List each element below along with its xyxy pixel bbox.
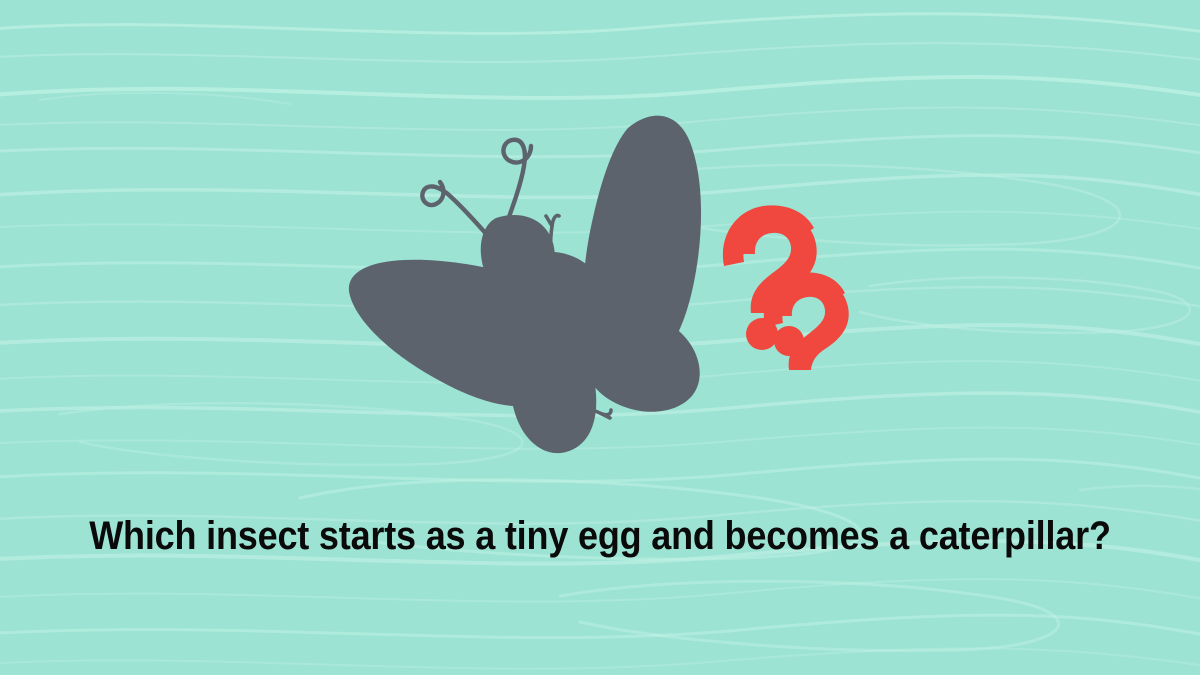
quiz-slide: Which insect starts as a tiny egg and be…	[0, 0, 1200, 675]
butterfly-silhouette	[349, 116, 701, 454]
antenna-left	[422, 182, 488, 236]
question-mark-pair	[723, 205, 849, 370]
head	[481, 215, 555, 292]
illustration-layer	[0, 0, 1200, 675]
question-text: Which insect starts as a tiny egg and be…	[60, 512, 1140, 560]
question-mark-small	[764, 272, 849, 370]
antenna-right	[503, 140, 531, 228]
